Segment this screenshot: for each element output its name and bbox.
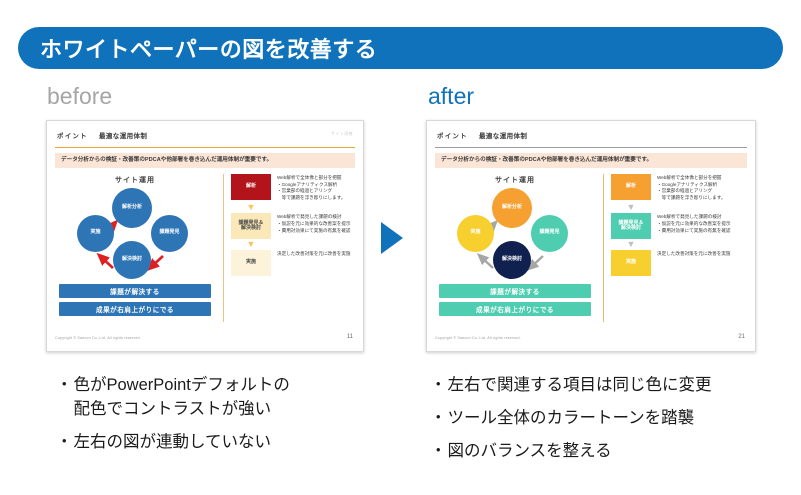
before-point-label: ポイント <box>57 130 88 140</box>
after-cycle-column: サイト運用 解析分析 <box>435 174 595 324</box>
after-flow-chip-2: 課題発見＆解決検討 <box>611 213 651 239</box>
before-node-2-label: 課題発見 <box>159 230 179 236</box>
before-flow-step-3: 実施 決定した改善対策を元に改善を実施 <box>231 250 355 276</box>
before-flow-arrow-down-icon-1: ▼ <box>231 203 271 212</box>
bullet-mark: ・ <box>430 374 447 398</box>
page-title: ホワイトペーパーの図を改善する <box>40 32 377 64</box>
before-notes-list: ・ 色がPowerPointデフォルトの配色でコントラストが強い ・ 左右の図が… <box>56 374 386 464</box>
after-lead-band: データ分析からの検証・改善策のPDCAや他部署を巻き込んだ運用体制が重要です。 <box>435 153 747 168</box>
bullet-text: 色がPowerPointデフォルトの配色でコントラストが強い <box>74 374 387 422</box>
bullet-mark: ・ <box>430 440 447 464</box>
after-node-3-label: 解決検討 <box>502 257 522 263</box>
after-node-1-label: 解析分析 <box>502 205 522 211</box>
bullet-text: 左右の図が連動していない <box>74 431 387 455</box>
after-slide-header: ポイント 最適な運用体制 <box>435 126 747 148</box>
after-flow-step-2: 課題発見＆解決検討 Web解析で発見した課題の検討・仮説を元に効果的な改善案を提… <box>611 213 747 239</box>
after-outcome-bar-1: 課題が解決する <box>439 284 591 298</box>
before-node-4: 実施 <box>77 215 114 252</box>
after-flow-step-3: 実施 決定した改善対策を元に改善を実施 <box>611 250 747 276</box>
after-flow-chip-3: 実施 <box>611 250 651 276</box>
after-node-2-label: 課題発見 <box>539 230 559 236</box>
before-node-4-label: 実施 <box>90 230 100 236</box>
before-header-rule <box>55 147 355 148</box>
after-flow-desc-2: Web解析で発見した課題の検討・仮説を元に効果的な改善案を提示・費用対効果にて実… <box>657 213 731 235</box>
before-outcome-bar-1: 課題が解決する <box>59 284 211 298</box>
after-flow-arrow-down-icon-2: ▼ <box>611 240 651 249</box>
after-header-rule <box>435 147 747 148</box>
bullet-mark: ・ <box>56 431 73 455</box>
after-point-label: ポイント <box>437 130 468 140</box>
before-outcome-bar-2: 成果が右肩上がりにでる <box>59 302 211 316</box>
bullet-mark: ・ <box>56 374 73 398</box>
before-flow-desc-2: Web解析で発見した課題の検討・仮説を元に効果的な改善案を提示・費用対効果にて実… <box>277 213 351 235</box>
list-item: ・ 左右で関連する項目は同じ色に変更 <box>430 374 780 398</box>
before-lead-band: データ分析からの検証・改善策のPDCAや他部署を巻き込んだ運用体制が重要です。 <box>55 153 355 168</box>
after-flow-chip-1: 解析 <box>611 174 651 200</box>
bullet-mark: ・ <box>430 407 447 431</box>
bullet-text: 左右で関連する項目は同じ色に変更 <box>448 374 781 398</box>
before-cycle-title: サイト運用 <box>55 175 215 185</box>
after-copyright: Copyright © Saecon Co.,Ltd. All rights r… <box>435 336 521 340</box>
before-slide-footer: Copyright © Saecon Co.,Ltd. All rights r… <box>55 334 355 346</box>
after-node-1: 解析分析 <box>492 188 532 228</box>
before-flow-arrow-down-icon-2: ▼ <box>231 240 271 249</box>
after-flow-desc-3: 決定した改善対策を元に改善を実施 <box>657 250 731 258</box>
before-cycle-column: サイト運用 解析分析 <box>55 174 215 324</box>
after-header-title: 最適な運用体制 <box>479 130 527 140</box>
after-slide-body: サイト運用 解析分析 <box>435 174 747 324</box>
page-title-banner: ホワイトペーパーの図を改善する <box>18 27 783 69</box>
after-notes-list: ・ 左右で関連する項目は同じ色に変更 ・ ツール全体のカラートーンを踏襲 ・ 図… <box>430 374 780 473</box>
before-node-3-label: 解決検討 <box>122 257 142 263</box>
list-item: ・ 図のバランスを整える <box>430 440 780 464</box>
before-flow-desc-3: 決定した改善対策を元に改善を実施 <box>277 250 351 258</box>
before-flow-column: 解析 Web解析で全体像と部分を把握・Googleアナリティクス解析・営業部の経… <box>231 174 355 324</box>
after-cycle-diagram: 解析分析 課題発見 解決検討 実施 <box>435 188 595 280</box>
before-header-right-note: サイト改善 <box>331 131 353 137</box>
before-node-1: 解析分析 <box>112 188 152 228</box>
before-page-number: 11 <box>347 334 353 340</box>
after-flow-step-1: 解析 Web解析で全体像と部分を把握・Googleアナリティクス解析・営業部の経… <box>611 174 747 203</box>
after-page-number: 21 <box>738 334 745 340</box>
after-flow-arrow-down-icon-1: ▼ <box>611 203 651 212</box>
before-slide-body: サイト運用 解析分析 <box>55 174 355 324</box>
bullet-text: 図のバランスを整える <box>448 440 781 464</box>
before-slide-header: ポイント 最適な運用体制 サイト改善 <box>55 126 355 148</box>
list-item: ・ 左右の図が連動していない <box>56 431 386 455</box>
before-cycle-diagram: 解析分析 課題発見 解決検討 実施 <box>55 188 215 280</box>
before-node-1-label: 解析分析 <box>122 205 142 211</box>
before-node-3: 解決検討 <box>113 241 151 279</box>
after-flow-column: 解析 Web解析で全体像と部分を把握・Googleアナリティクス解析・営業部の経… <box>611 174 747 324</box>
before-flow-chip-2: 課題発見＆解決検討 <box>231 213 271 239</box>
before-label: before <box>47 83 112 110</box>
after-flow-desc-1: Web解析で全体像と部分を把握・Googleアナリティクス解析・営業部の経過とア… <box>657 174 725 203</box>
before-flow-desc-1: Web解析で全体像と部分を把握・Googleアナリティクス解析・営業部の経過とア… <box>277 174 345 203</box>
after-node-4-label: 実施 <box>470 230 480 236</box>
before-flow-step-2: 課題発見＆解決検討 Web解析で発見した課題の検討・仮説を元に効果的な改善案を提… <box>231 213 355 239</box>
after-slide-thumbnail[interactable]: ポイント 最適な運用体制 データ分析からの検証・改善策のPDCAや他部署を巻き込… <box>426 120 756 352</box>
after-node-3: 解決検討 <box>493 241 531 279</box>
after-node-2: 課題発見 <box>531 215 568 252</box>
after-outcome-bar-2: 成果が右肩上がりにでる <box>439 302 591 316</box>
before-flow-step-1: 解析 Web解析で全体像と部分を把握・Googleアナリティクス解析・営業部の経… <box>231 174 355 203</box>
slide-page: ホワイトペーパーの図を改善する before after ポイント 最適な運用体… <box>0 0 801 495</box>
bullet-text: ツール全体のカラートーンを踏襲 <box>448 407 781 431</box>
before-flow-chip-1: 解析 <box>231 174 271 200</box>
after-cycle-title: サイト運用 <box>435 175 595 185</box>
after-node-4: 実施 <box>457 215 494 252</box>
list-item: ・ ツール全体のカラートーンを踏襲 <box>430 407 780 431</box>
before-copyright: Copyright © Saecon Co.,Ltd. All rights r… <box>55 336 141 340</box>
after-column-divider <box>603 174 604 322</box>
list-item: ・ 色がPowerPointデフォルトの配色でコントラストが強い <box>56 374 386 422</box>
after-label: after <box>428 83 474 110</box>
before-node-2: 課題発見 <box>151 215 188 252</box>
before-flow-chip-3: 実施 <box>231 250 271 276</box>
before-column-divider <box>223 174 224 322</box>
before-slide-thumbnail[interactable]: ポイント 最適な運用体制 サイト改善 データ分析からの検証・改善策のPDCAや他… <box>46 120 364 352</box>
before-header-title: 最適な運用体制 <box>99 130 147 140</box>
transition-arrow-icon <box>381 222 403 254</box>
after-slide-footer: Copyright © Saecon Co.,Ltd. All rights r… <box>435 334 747 346</box>
